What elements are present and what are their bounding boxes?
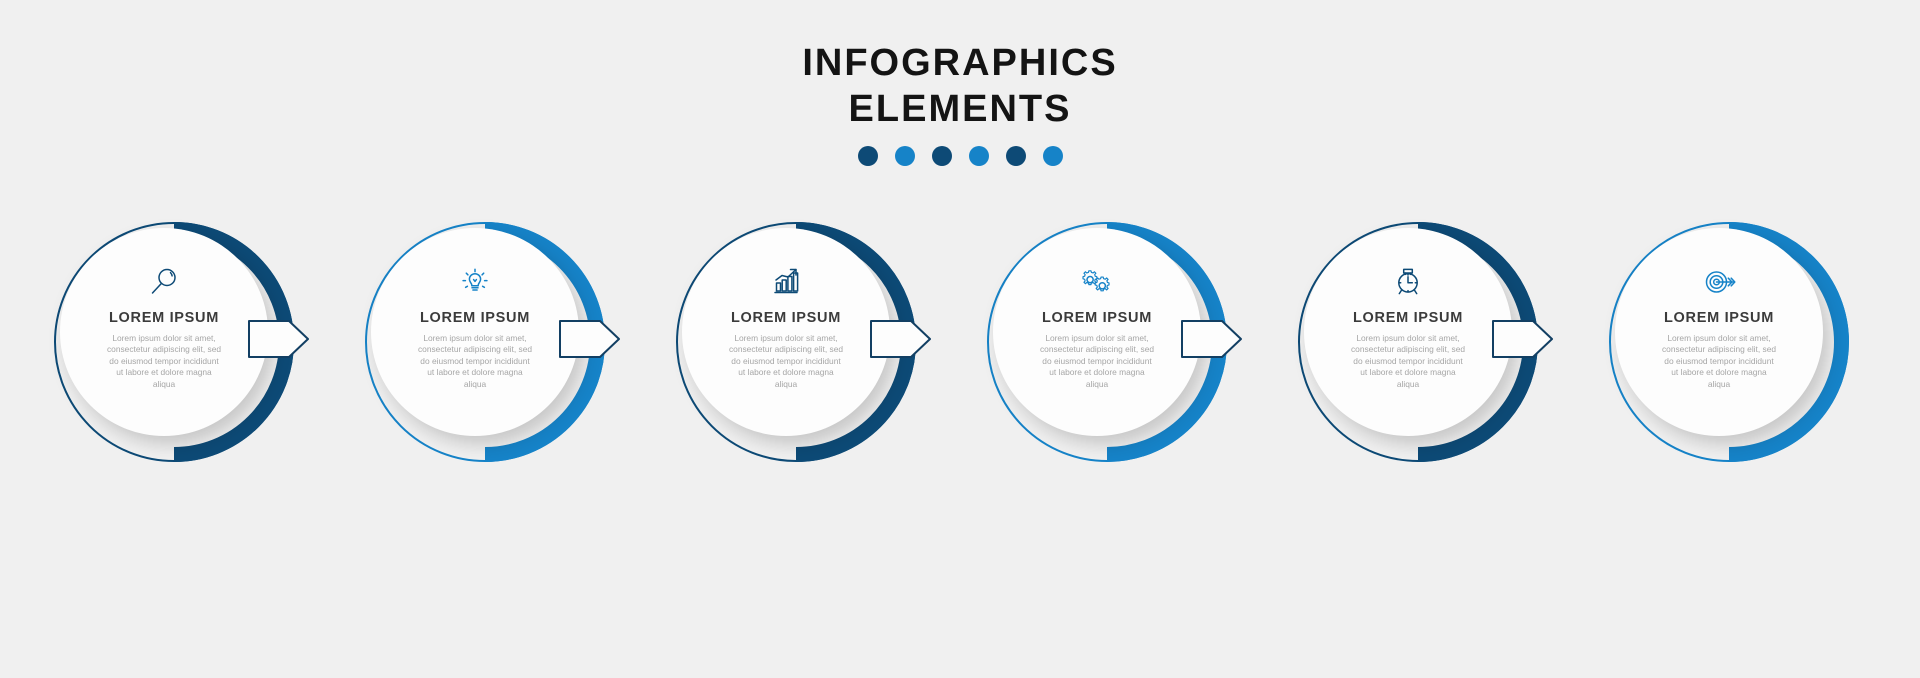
connector-arrow-4[interactable] <box>1181 310 1243 368</box>
connector-arrow-3[interactable] <box>870 310 932 368</box>
step-title: LOREM IPSUM <box>1353 310 1463 326</box>
page-title-line-2: ELEMENTS <box>0 86 1920 132</box>
bar-chart-growth-icon <box>769 260 803 304</box>
step-title: LOREM IPSUM <box>1042 310 1152 326</box>
connector-arrow-2[interactable] <box>559 310 621 368</box>
step-description: Lorem ipsum dolor sit amet, consectetur … <box>1349 333 1467 390</box>
magnifier-icon <box>147 260 181 304</box>
step-card[interactable]: LOREM IPSUMLorem ipsum dolor sit amet, c… <box>371 228 579 436</box>
step-description: Lorem ipsum dolor sit amet, consectetur … <box>1660 333 1778 390</box>
target-arrow-icon <box>1702 260 1736 304</box>
dot-4 <box>969 146 989 166</box>
step-6[interactable]: LOREM IPSUMLorem ipsum dolor sit amet, c… <box>1609 222 1849 462</box>
step-card[interactable]: LOREM IPSUMLorem ipsum dolor sit amet, c… <box>1615 228 1823 436</box>
alarm-clock-icon <box>1391 260 1425 304</box>
decorative-dots-row <box>0 146 1920 166</box>
step-card[interactable]: LOREM IPSUMLorem ipsum dolor sit amet, c… <box>1304 228 1512 436</box>
dot-6 <box>1043 146 1063 166</box>
step-description: Lorem ipsum dolor sit amet, consectetur … <box>727 333 845 390</box>
dot-2 <box>895 146 915 166</box>
dot-5 <box>1006 146 1026 166</box>
connector-arrow-5[interactable] <box>1492 310 1554 368</box>
step-card[interactable]: LOREM IPSUMLorem ipsum dolor sit amet, c… <box>60 228 268 436</box>
gears-icon <box>1080 260 1114 304</box>
connector-arrow-1[interactable] <box>248 310 310 368</box>
step-card[interactable]: LOREM IPSUMLorem ipsum dolor sit amet, c… <box>993 228 1201 436</box>
step-title: LOREM IPSUM <box>731 310 841 326</box>
header: INFOGRAPHICS ELEMENTS <box>0 40 1920 166</box>
step-title: LOREM IPSUM <box>420 310 530 326</box>
infographic-steps-row: LOREM IPSUMLorem ipsum dolor sit amet, c… <box>0 222 1920 462</box>
step-title: LOREM IPSUM <box>1664 310 1774 326</box>
step-card[interactable]: LOREM IPSUMLorem ipsum dolor sit amet, c… <box>682 228 890 436</box>
lightbulb-icon <box>458 260 492 304</box>
page-title-line-1: INFOGRAPHICS <box>0 40 1920 86</box>
dot-3 <box>932 146 952 166</box>
step-description: Lorem ipsum dolor sit amet, consectetur … <box>1038 333 1156 390</box>
step-title: LOREM IPSUM <box>109 310 219 326</box>
dot-1 <box>858 146 878 166</box>
step-description: Lorem ipsum dolor sit amet, consectetur … <box>416 333 534 390</box>
step-description: Lorem ipsum dolor sit amet, consectetur … <box>105 333 223 390</box>
